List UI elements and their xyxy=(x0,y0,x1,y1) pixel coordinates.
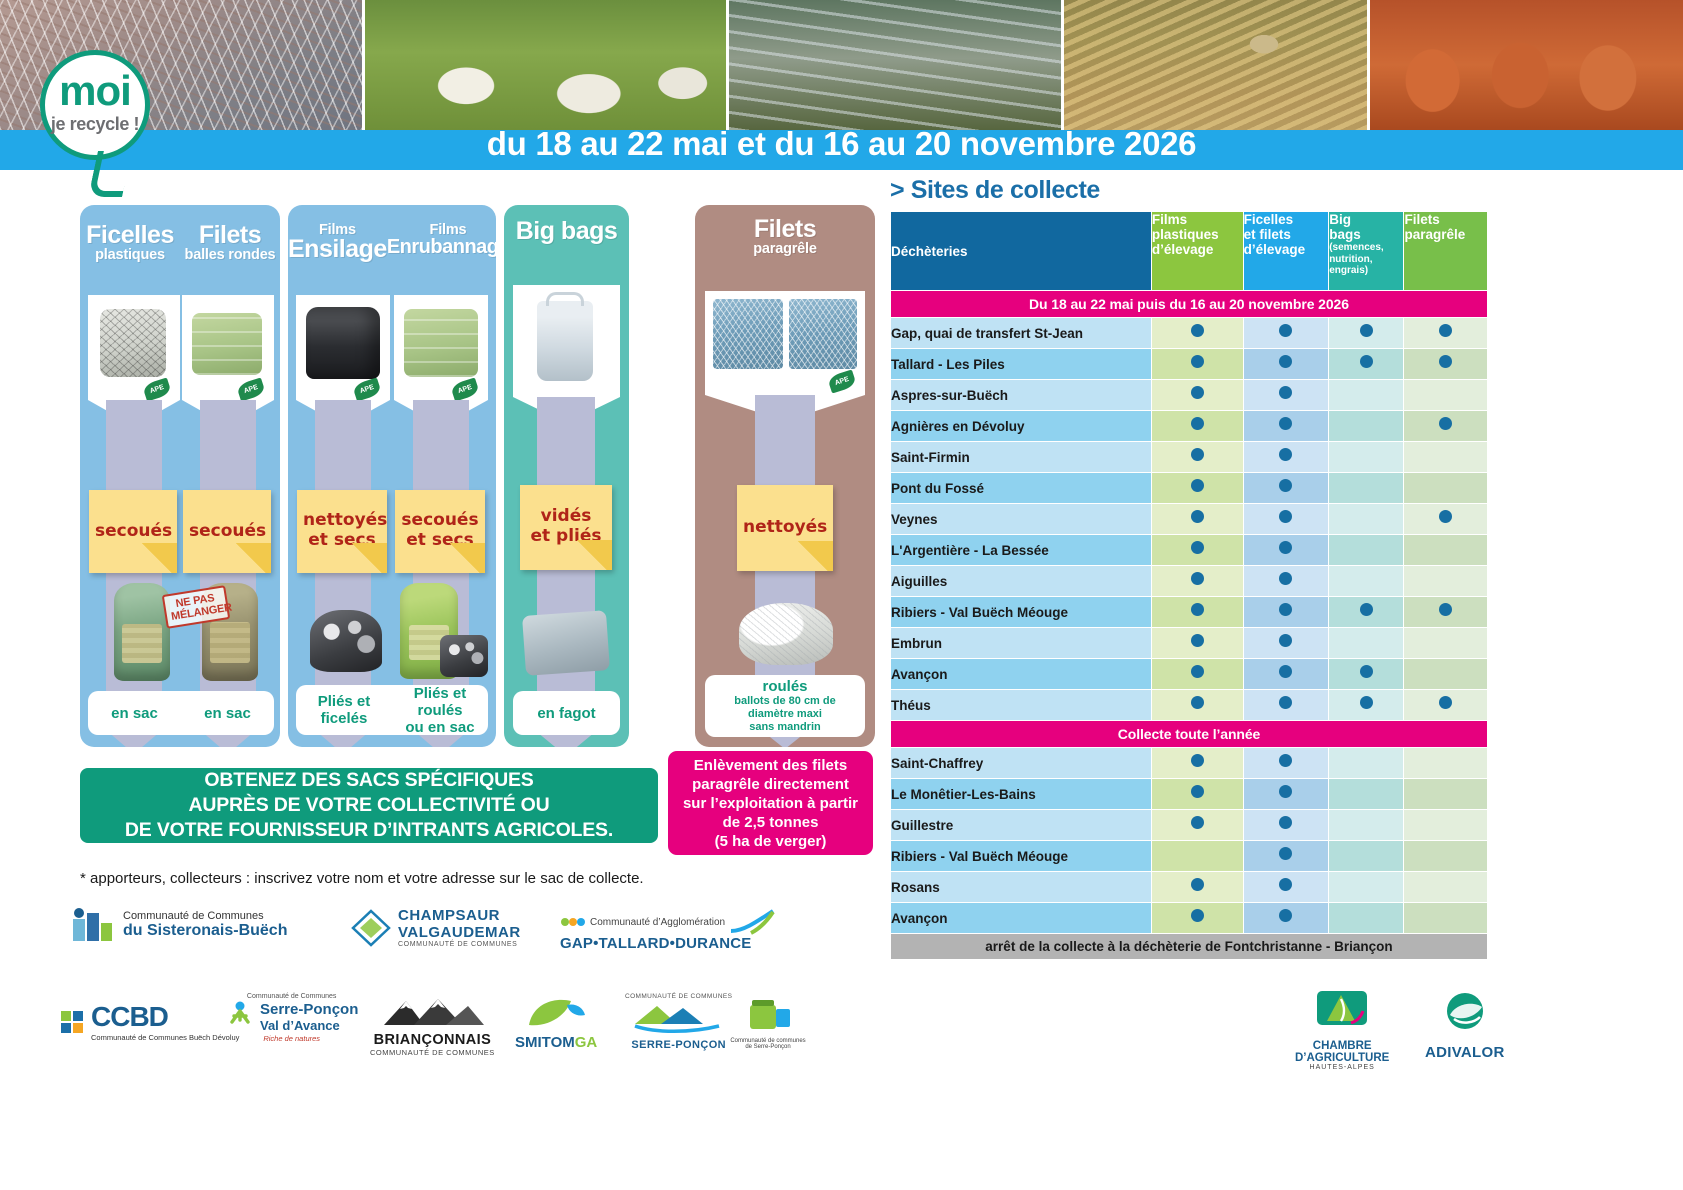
accepted-dot-icon xyxy=(1279,785,1292,798)
logo-moi-je-recycle: moi je recycle ! xyxy=(40,50,150,160)
ccsb-mark-icon xyxy=(70,905,116,945)
collection-sites-section: > Sites de collecte Déchèteries Films pl… xyxy=(890,176,1488,960)
table-row: Le Monêtier-Les-Bains xyxy=(891,779,1487,809)
adivalor-mark-icon xyxy=(1436,991,1494,1039)
panel2-tray-a: APE xyxy=(296,295,390,400)
accepted-dot-icon xyxy=(1191,324,1204,337)
accepted-dot-icon xyxy=(1279,386,1292,399)
table-row: L'Argentière - La Bessée xyxy=(891,535,1487,565)
accepted-dot-icon xyxy=(1191,541,1204,554)
panel2-captions: Pliés et ficelés Pliés et roulés ou en s… xyxy=(296,685,488,735)
accepted-cell xyxy=(1244,810,1329,840)
date-banner-text: du 18 au 22 mai et du 16 au 20 novembre … xyxy=(0,125,1683,163)
site-name-cell: Saint-Chaffrey xyxy=(891,748,1151,778)
partner-logos-row-1: Communauté de Communes du Sisteronais-Bu… xyxy=(70,905,870,965)
accepted-cell xyxy=(1404,411,1487,441)
accepted-cell xyxy=(1329,473,1403,503)
accepted-cell xyxy=(1329,779,1403,809)
panel1-title-filets: Filets balles rondes xyxy=(180,223,280,263)
accepted-cell xyxy=(1244,597,1329,627)
footnote-text: * apporteurs, collecteurs : inscrivez vo… xyxy=(80,870,880,887)
col-header-filets-paragrele: Filets paragrêle xyxy=(1404,212,1487,290)
site-name-cell: Tallard - Les Piles xyxy=(891,349,1151,379)
accepted-cell xyxy=(1404,628,1487,658)
panel2-note-a: nettoyés et secs xyxy=(297,490,387,573)
photo-round-bale-nets xyxy=(192,313,262,375)
table-row: Guillestre xyxy=(891,810,1487,840)
smitomga-l3: GA xyxy=(575,1034,598,1051)
site-name-cell: Saint-Firmin xyxy=(891,442,1151,472)
logo-smitomga: SMITOMGA xyxy=(515,995,597,1050)
panel1-title-ficelles: Ficelles plastiques xyxy=(80,223,180,263)
accepted-dot-icon xyxy=(1279,603,1292,616)
waste-bin-icon xyxy=(740,995,796,1033)
accepted-dot-icon xyxy=(1279,634,1292,647)
section-band-label: Collecte toute l’année xyxy=(891,721,1487,747)
accepted-dot-icon xyxy=(1279,448,1292,461)
brianconnais-subtitle: COMMUNAUTÉ DE COMMUNES xyxy=(370,1048,495,1057)
site-name-cell: Embrun xyxy=(891,628,1151,658)
table-body: Du 18 au 22 mai puis du 16 au 20 novembr… xyxy=(891,291,1487,959)
spva-line-4: Riche de natures xyxy=(225,1034,358,1043)
accepted-cell xyxy=(1152,442,1243,472)
accepted-cell xyxy=(1244,349,1329,379)
accepted-cell xyxy=(1404,872,1487,902)
panel4-tray: APE xyxy=(705,291,865,395)
table-row: Agnières en Dévoluy xyxy=(891,411,1487,441)
photo-rolled-wrap-film xyxy=(440,635,488,677)
accepted-dot-icon xyxy=(1279,572,1292,585)
accepted-cell xyxy=(1404,504,1487,534)
accepted-dot-icon xyxy=(1279,479,1292,492)
smitomga-l2: TOM xyxy=(542,1034,575,1051)
table-row: Saint-Chaffrey xyxy=(891,748,1487,778)
sticky-fold-corner xyxy=(574,540,612,570)
sp-line-1: COMMUNAUTÉ DE COMMUNES xyxy=(625,993,732,1000)
site-name-cell: Avançon xyxy=(891,903,1151,933)
accepted-cell xyxy=(1244,535,1329,565)
accepted-dot-icon xyxy=(1191,665,1204,678)
spva-line-2: Serre-Ponçon xyxy=(260,1001,358,1018)
accepted-cell xyxy=(1244,411,1329,441)
panel2-title-ensilage: Films Ensilage xyxy=(288,223,387,262)
accepted-cell xyxy=(1329,442,1403,472)
panel1-note-b: secoués xyxy=(183,490,271,573)
accepted-cell xyxy=(1404,473,1487,503)
accepted-cell xyxy=(1152,380,1243,410)
pink-note-enlevement-filets: Enlèvement des filets paragrêle directem… xyxy=(668,751,873,855)
pinknote-line-1: Enlèvement des filets xyxy=(683,756,858,775)
photo-hay-bales xyxy=(1064,0,1370,130)
ccsb-line-1: Communauté de Communes xyxy=(123,910,287,922)
site-name-cell: Aspres-sur-Buëch xyxy=(891,380,1151,410)
ccbd-mark-icon xyxy=(60,1008,86,1036)
table-footer-row: arrêt de la collecte à la déchèterie de … xyxy=(891,934,1487,959)
accepted-cell xyxy=(1152,349,1243,379)
panel1-note-a: secoués xyxy=(89,490,177,573)
site-name-cell: Gap, quai de transfert St-Jean xyxy=(891,318,1151,348)
site-name-cell: Aiguilles xyxy=(891,566,1151,596)
accepted-cell xyxy=(1404,810,1487,840)
table-row: Gap, quai de transfert St-Jean xyxy=(891,318,1487,348)
logo-line-2: je recycle ! xyxy=(45,114,145,135)
smitomga-leaf-icon xyxy=(521,995,591,1031)
photo-silage-film-roll xyxy=(306,307,380,379)
accepted-dot-icon xyxy=(1279,541,1292,554)
accepted-cell xyxy=(1152,535,1243,565)
ca-line-3: HAUTES-ALPES xyxy=(1295,1064,1389,1071)
ccsb-line-2: du Sisteronais-Buëch xyxy=(123,922,287,940)
photo-hail-net-closeup xyxy=(789,299,857,369)
partner-logos-row-2: CCBD Communauté de Communes Buëch Dévolu… xyxy=(50,985,880,1080)
accepted-cell xyxy=(1329,628,1403,658)
serre-poncon-lake-icon xyxy=(631,1000,727,1034)
accepted-dot-icon xyxy=(1279,355,1292,368)
photo-wrapped-bales xyxy=(404,309,478,377)
ape-logo-icon: APE xyxy=(142,377,172,401)
accepted-cell xyxy=(1329,504,1403,534)
accepted-cell xyxy=(1329,810,1403,840)
photo-big-bag xyxy=(537,301,593,381)
accepted-dot-icon xyxy=(1191,878,1204,891)
accepted-cell xyxy=(1329,411,1403,441)
champsaur-line-1: CHAMPSAUR xyxy=(398,907,521,924)
panel1-captions: en sac en sac xyxy=(88,691,274,735)
accepted-dot-icon xyxy=(1191,386,1204,399)
accepted-cell xyxy=(1244,903,1329,933)
table-row: Aspres-sur-Buëch xyxy=(891,380,1487,410)
site-name-cell: Guillestre xyxy=(891,810,1151,840)
panel4-captions: roulés ballots de 80 cm de diamètre maxi… xyxy=(705,675,865,737)
accepted-cell xyxy=(1404,535,1487,565)
table-row: Ribiers - Val Buëch Méouge xyxy=(891,841,1487,871)
sticky-fold-corner xyxy=(795,541,833,571)
accepted-cell xyxy=(1329,566,1403,596)
col-header-films-plastiques: Films plastiques d’élevage xyxy=(1152,212,1243,290)
accepted-cell xyxy=(1152,659,1243,689)
logo-champsaur-valgaudemar: CHAMPSAUR VALGAUDEMAR COMMUNAUTÉ DE COMM… xyxy=(350,907,521,948)
accepted-dot-icon xyxy=(1191,754,1204,767)
brianconnais-name: BRIANÇONNAIS xyxy=(370,1032,495,1048)
site-name-cell: Veynes xyxy=(891,504,1151,534)
panel4-note: nettoyés xyxy=(737,485,833,571)
cta-line-3: DE VOTRE FOURNISSEUR D’INTRANTS AGRICOLE… xyxy=(125,818,613,843)
accepted-dot-icon xyxy=(1360,355,1373,368)
table-row: Embrun xyxy=(891,628,1487,658)
table-row: Ribiers - Val Buëch Méouge xyxy=(891,597,1487,627)
logo-ccsb: Communauté de Communes du Sisteronais-Bu… xyxy=(70,905,287,945)
spva-figure-icon xyxy=(225,1000,255,1034)
table-row: Aiguilles xyxy=(891,566,1487,596)
accepted-cell xyxy=(1329,535,1403,565)
speech-bubble-tail xyxy=(88,151,132,197)
accepted-cell xyxy=(1404,566,1487,596)
table-row: Rosans xyxy=(891,872,1487,902)
accepted-cell xyxy=(1329,380,1403,410)
accepted-dot-icon xyxy=(1439,510,1452,523)
accepted-cell xyxy=(1152,779,1243,809)
accepted-cell xyxy=(1329,690,1403,720)
col-header-dechèteries: Déchèteries xyxy=(891,212,1151,290)
panel3-note: vidés et pliés xyxy=(520,485,612,570)
accepted-dot-icon xyxy=(1279,909,1292,922)
logo-serre-poncon-val-avance: Communauté de Communes Serre-Ponçon Val … xyxy=(225,993,358,1043)
accepted-dot-icon xyxy=(1439,355,1452,368)
sticky-fold-corner xyxy=(447,543,485,573)
panel1-tray-a: APE xyxy=(88,295,180,400)
photo-hail-net-orchard xyxy=(713,299,783,369)
ape-logo-icon: APE xyxy=(236,377,266,401)
accepted-cell xyxy=(1244,628,1329,658)
photo-cattle xyxy=(1370,0,1683,130)
accepted-cell xyxy=(1244,504,1329,534)
accepted-dot-icon xyxy=(1191,909,1204,922)
accepted-dot-icon xyxy=(1191,603,1204,616)
accepted-dot-icon xyxy=(1279,696,1292,709)
accepted-cell xyxy=(1152,504,1243,534)
pinknote-line-4: de 2,5 tonnes xyxy=(683,813,858,832)
brianconnais-mountains-icon xyxy=(376,997,488,1027)
accepted-cell xyxy=(1404,659,1487,689)
accepted-dot-icon xyxy=(1191,479,1204,492)
table-row: Saint-Firmin xyxy=(891,442,1487,472)
sticky-fold-corner xyxy=(139,543,177,573)
panel-films: Films Ensilage Films Enrubannage APE APE… xyxy=(288,205,496,747)
site-name-cell: Avançon xyxy=(891,659,1151,689)
accepted-cell xyxy=(1329,903,1403,933)
table-row: Théus xyxy=(891,690,1487,720)
site-name-cell: Pont du Fossé xyxy=(891,473,1151,503)
accepted-cell xyxy=(1329,748,1403,778)
accepted-cell xyxy=(1244,872,1329,902)
champsaur-line-3: COMMUNAUTÉ DE COMMUNES xyxy=(398,941,521,948)
accepted-cell xyxy=(1152,872,1243,902)
accepted-dot-icon xyxy=(1279,754,1292,767)
logo-line-1: moi xyxy=(45,71,145,111)
pinknote-line-2: paragrêle directement xyxy=(683,775,858,794)
panel2-note-b: secoués et secs xyxy=(395,490,485,573)
accepted-dot-icon xyxy=(1191,417,1204,430)
site-name-cell: Théus xyxy=(891,690,1151,720)
photo-folded-big-bags xyxy=(522,610,610,676)
accepted-dot-icon xyxy=(1279,816,1292,829)
ape-logo-icon: APE xyxy=(352,377,382,401)
site-name-cell: Rosans xyxy=(891,872,1151,902)
accepted-cell xyxy=(1152,597,1243,627)
champsaur-line-2: VALGAUDEMAR xyxy=(398,924,521,941)
gtd-dots-icon xyxy=(560,915,586,929)
table-row: Avançon xyxy=(891,903,1487,933)
table-row: Tallard - Les Piles xyxy=(891,349,1487,379)
date-banner: du 18 au 22 mai et du 16 au 20 novembre … xyxy=(0,130,1683,170)
accepted-dot-icon xyxy=(1191,355,1204,368)
gtd-swoosh-icon xyxy=(729,909,775,935)
accepted-cell xyxy=(1329,872,1403,902)
logo-chambre-agriculture: CHAMBRE D’AGRICULTURE HAUTES-ALPES xyxy=(1295,989,1389,1071)
sp-line-2: SERRE-PONÇON xyxy=(625,1039,732,1051)
panel3-tray xyxy=(513,285,620,397)
logo-adivalor: ADIVALOR xyxy=(1425,991,1505,1061)
collection-sites-table: Déchèteries Films plastiques d’élevage F… xyxy=(890,211,1488,960)
accepted-cell xyxy=(1244,566,1329,596)
accepted-dot-icon xyxy=(1360,665,1373,678)
accepted-dot-icon xyxy=(1360,696,1373,709)
table-section-band: Collecte toute l’année xyxy=(891,721,1487,747)
section-band-label: Du 18 au 22 mai puis du 16 au 20 novembr… xyxy=(891,291,1487,317)
cta-line-1: OBTENEZ DES SACS SPÉCIFIQUES xyxy=(125,768,613,793)
cta-banner-sacs-specifiques: OBTENEZ DES SACS SPÉCIFIQUES AUPRÈS DE V… xyxy=(80,768,658,843)
logo-serre-poncon-bin: Communauté de communes de Serre-Ponçon xyxy=(730,995,806,1050)
accepted-dot-icon xyxy=(1439,696,1452,709)
accepted-dot-icon xyxy=(1191,572,1204,585)
accepted-cell xyxy=(1244,841,1329,871)
accepted-dot-icon xyxy=(1191,510,1204,523)
accepted-dot-icon xyxy=(1439,603,1452,616)
panel3-title: Big bags xyxy=(504,219,629,244)
accepted-cell xyxy=(1244,779,1329,809)
gtd-line-2: GAP•TALLARD•DURANCE xyxy=(560,935,775,952)
accepted-cell xyxy=(1244,318,1329,348)
smitomga-l1: SMI xyxy=(515,1034,542,1051)
accepted-dot-icon xyxy=(1360,603,1373,616)
ape-logo-icon: APE xyxy=(450,377,480,401)
accepted-dot-icon xyxy=(1439,324,1452,337)
accepted-cell xyxy=(1404,841,1487,871)
accepted-dot-icon xyxy=(1279,324,1292,337)
table-row: Veynes xyxy=(891,504,1487,534)
accepted-cell xyxy=(1152,411,1243,441)
panel3-caption: en fagot xyxy=(513,691,620,735)
ca-line-1: CHAMBRE xyxy=(1295,1040,1389,1052)
accepted-cell xyxy=(1404,779,1487,809)
accepted-cell xyxy=(1244,659,1329,689)
photo-sheep xyxy=(365,0,730,130)
accepted-cell xyxy=(1152,628,1243,658)
accepted-dot-icon xyxy=(1191,785,1204,798)
sticky-fold-corner xyxy=(233,543,271,573)
accepted-cell xyxy=(1244,748,1329,778)
panel-ficelles-filets: Ficelles plastiques Filets balles rondes… xyxy=(80,205,280,747)
accepted-cell xyxy=(1404,748,1487,778)
site-name-cell: Agnières en Dévoluy xyxy=(891,411,1151,441)
accepted-cell xyxy=(1152,690,1243,720)
photo-twine-roll xyxy=(100,309,166,377)
chambre-agriculture-mark-icon xyxy=(1311,989,1373,1035)
panel2-title-enrubannage: Films Enrubannage xyxy=(387,223,496,262)
accepted-dot-icon xyxy=(1279,510,1292,523)
accepted-dot-icon xyxy=(1279,847,1292,860)
ccbd-acronym: CCBD xyxy=(91,1001,239,1033)
panel2-tray-b: APE xyxy=(394,295,488,400)
logo-ccbd: CCBD Communauté de Communes Buëch Dévolu… xyxy=(60,1001,239,1042)
accepted-dot-icon xyxy=(1360,324,1373,337)
sticky-fold-corner xyxy=(349,543,387,573)
big-bag-strap xyxy=(546,292,584,306)
accepted-cell xyxy=(1404,597,1487,627)
col-header-ficelles-filets: Ficelles et filets d’élevage xyxy=(1244,212,1329,290)
site-name-cell: L'Argentière - La Bessée xyxy=(891,535,1151,565)
accepted-cell xyxy=(1152,318,1243,348)
logo-gap-tallard-durance: Communauté d’Agglomération GAP•TALLARD•D… xyxy=(560,909,775,952)
accepted-cell xyxy=(1329,597,1403,627)
site-name-cell: Le Monêtier-Les-Bains xyxy=(891,779,1151,809)
spb-line-3: Communauté de communes de Serre-Ponçon xyxy=(730,1038,806,1050)
photo-rolled-hail-net xyxy=(739,603,833,665)
logo-serre-poncon: COMMUNAUTÉ DE COMMUNES SERRE-PONÇON xyxy=(625,993,732,1051)
accepted-cell xyxy=(1152,903,1243,933)
accepted-cell xyxy=(1244,473,1329,503)
accepted-dot-icon xyxy=(1191,816,1204,829)
accepted-dot-icon xyxy=(1279,665,1292,678)
accepted-dot-icon xyxy=(1191,634,1204,647)
gtd-line-1: Communauté d’Agglomération xyxy=(590,917,725,928)
site-name-cell: Ribiers - Val Buëch Méouge xyxy=(891,597,1151,627)
accepted-cell xyxy=(1152,748,1243,778)
pinknote-line-3: sur l’exploitation à partir xyxy=(683,794,858,813)
accepted-cell xyxy=(1404,349,1487,379)
pinknote-line-5: (5 ha de verger) xyxy=(683,832,858,851)
accepted-dot-icon xyxy=(1191,696,1204,709)
panel-filets-paragrele: Filets paragrêle APE nettoyés roulés bal… xyxy=(695,205,875,747)
table-row: Avançon xyxy=(891,659,1487,689)
accepted-dot-icon xyxy=(1191,448,1204,461)
panel-big-bags: Big bags vidés et pliés en fagot xyxy=(504,205,629,747)
site-name-cell: Ribiers - Val Buëch Méouge xyxy=(891,841,1151,871)
photo-greenhouse-film xyxy=(729,0,1064,130)
accepted-cell xyxy=(1244,690,1329,720)
ca-line-2: D’AGRICULTURE xyxy=(1295,1052,1389,1064)
accepted-cell xyxy=(1152,566,1243,596)
champsaur-mark-icon xyxy=(350,908,392,948)
accepted-cell xyxy=(1329,349,1403,379)
photo-folded-silage-film xyxy=(310,610,382,672)
accepted-cell xyxy=(1404,318,1487,348)
accepted-dot-icon xyxy=(1279,878,1292,891)
panel4-title: Filets paragrêle xyxy=(695,217,875,257)
accepted-dot-icon xyxy=(1439,417,1452,430)
section-title: > Sites de collecte xyxy=(890,176,1488,205)
waste-type-panels: Ficelles plastiques Filets balles rondes… xyxy=(80,205,860,750)
spva-line-3: Val d’Avance xyxy=(260,1018,358,1033)
accepted-cell xyxy=(1329,659,1403,689)
table-header-row: Déchèteries Films plastiques d’élevage F… xyxy=(891,212,1487,290)
accepted-cell xyxy=(1152,810,1243,840)
accepted-cell xyxy=(1152,473,1243,503)
logo-brianconnais: BRIANÇONNAIS COMMUNAUTÉ DE COMMUNES xyxy=(370,997,495,1057)
spva-line-1: Communauté de Communes xyxy=(225,993,358,1000)
adivalor-name: ADIVALOR xyxy=(1425,1044,1505,1061)
table-row: Pont du Fossé xyxy=(891,473,1487,503)
cta-line-2: AUPRÈS DE VOTRE COLLECTIVITÉ OU xyxy=(125,793,613,818)
ccbd-subtitle: Communauté de Communes Buëch Dévoluy xyxy=(91,1033,239,1042)
accepted-cell xyxy=(1329,318,1403,348)
accepted-cell xyxy=(1404,380,1487,410)
accepted-cell xyxy=(1152,841,1243,871)
ape-logo-icon: APE xyxy=(827,369,857,393)
table-section-band: Du 18 au 22 mai puis du 16 au 20 novembr… xyxy=(891,291,1487,317)
accepted-dot-icon xyxy=(1279,417,1292,430)
col-header-big-bags: Big bags (semences, nutrition, engrais) xyxy=(1329,212,1403,290)
accepted-cell xyxy=(1404,690,1487,720)
accepted-cell xyxy=(1404,903,1487,933)
table-footer-note: arrêt de la collecte à la déchèterie de … xyxy=(891,934,1487,959)
accepted-cell xyxy=(1329,841,1403,871)
photo-strip xyxy=(0,0,1683,130)
panel1-tray-b: APE xyxy=(182,295,274,400)
accepted-cell xyxy=(1404,442,1487,472)
accepted-cell xyxy=(1244,380,1329,410)
accepted-cell xyxy=(1244,442,1329,472)
